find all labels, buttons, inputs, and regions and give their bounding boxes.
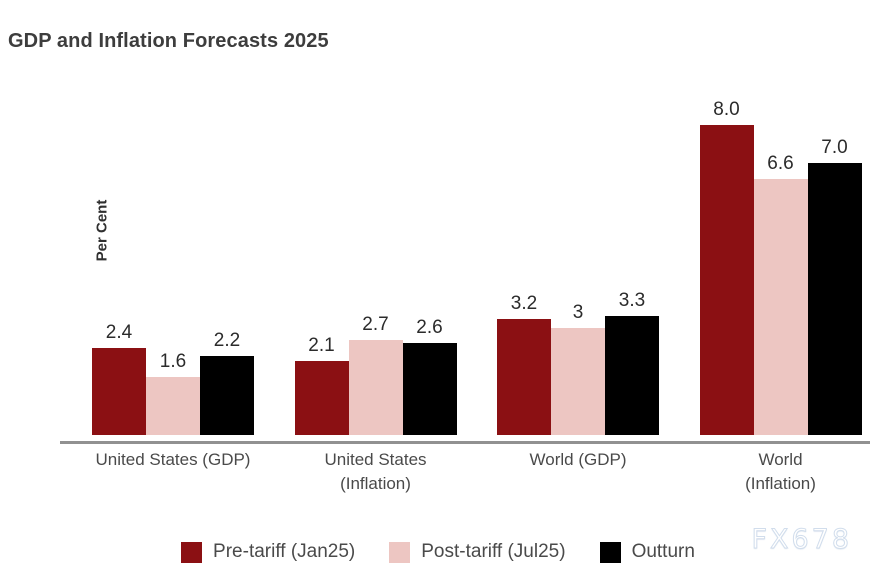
bar-group: 3.233.3	[497, 110, 659, 435]
bar-value-label: 2.6	[416, 317, 442, 339]
legend-swatch-icon	[181, 542, 202, 563]
bar-value-label: 7.0	[821, 137, 847, 159]
bar-value-label: 1.6	[160, 351, 186, 373]
bar[interactable]	[146, 377, 200, 435]
bar-group: 2.41.62.2	[92, 110, 254, 435]
legend-item[interactable]: Pre-tariff (Jan25)	[181, 541, 355, 563]
chart-plot-area: Per Cent 02468 2.41.62.22.12.72.63.233.3…	[60, 110, 870, 435]
bar[interactable]	[551, 328, 605, 435]
bar-value-label: 3.3	[619, 290, 645, 312]
bar-value-label: 8.0	[713, 99, 739, 121]
legend-swatch-icon	[600, 542, 621, 563]
bar-value-label: 2.2	[214, 330, 240, 352]
x-axis-category-label: United States (GDP)	[96, 448, 251, 472]
bar-group: 8.06.67.0	[700, 110, 862, 435]
bar-value-label: 3.2	[511, 293, 537, 315]
bar[interactable]	[403, 343, 457, 435]
bar[interactable]	[605, 316, 659, 435]
legend-label: Pre-tariff (Jan25)	[213, 541, 355, 563]
legend-item[interactable]: Post-tariff (Jul25)	[389, 541, 565, 563]
bar[interactable]	[700, 125, 754, 435]
legend-label: Outturn	[632, 541, 695, 563]
bar[interactable]	[497, 319, 551, 435]
x-axis-line	[60, 441, 870, 444]
page-title: GDP and Inflation Forecasts 2025	[8, 30, 329, 53]
bar[interactable]	[295, 361, 349, 435]
bar[interactable]	[349, 340, 403, 435]
bar[interactable]	[200, 356, 254, 435]
bar-group: 2.12.72.6	[295, 110, 457, 435]
bar-value-label: 2.7	[362, 314, 388, 336]
x-axis-category-label: World (GDP)	[530, 448, 627, 472]
bar[interactable]	[92, 348, 146, 435]
bar-value-label: 2.1	[308, 335, 334, 357]
x-axis-category-label: World (Inflation)	[733, 448, 829, 496]
bar-value-label: 2.4	[106, 322, 132, 344]
bar[interactable]	[754, 179, 808, 435]
bar-value-label: 3	[573, 302, 584, 324]
bar[interactable]	[808, 163, 862, 435]
bar-value-label: 6.6	[767, 153, 793, 175]
legend-swatch-icon	[389, 542, 410, 563]
legend-item[interactable]: Outturn	[600, 541, 695, 563]
chart-legend: Pre-tariff (Jan25)Post-tariff (Jul25)Out…	[0, 541, 876, 563]
x-axis-category-label: United States (Inflation)	[324, 448, 426, 496]
legend-label: Post-tariff (Jul25)	[421, 541, 565, 563]
